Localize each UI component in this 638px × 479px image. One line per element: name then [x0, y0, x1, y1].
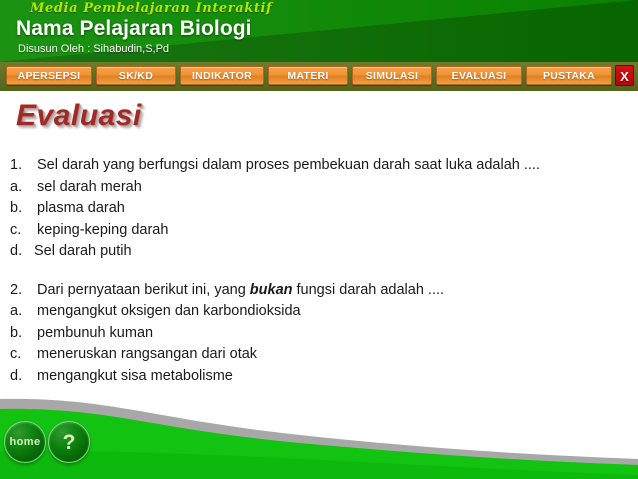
question-2-option-d[interactable]: d. mengangkut sisa metabolisme [10, 366, 630, 388]
page-title: Nama Pelajaran Biologi [16, 17, 252, 41]
question-1-option-c[interactable]: c. keping-keping darah [10, 220, 630, 242]
header-tagline: Media Pembelajaran Interaktif [30, 1, 272, 16]
question-2-number: 2. [10, 280, 37, 302]
nav-item-skkd[interactable]: SK/KD [96, 66, 176, 85]
quiz-content: 1. Sel darah yang berfungsi dalam proses… [10, 155, 630, 404]
nav-item-materi[interactable]: MATERI [268, 66, 348, 85]
question-2-option-b-text: pembunuh kuman [37, 323, 153, 345]
slide-canvas: Media Pembelajaran Interaktif Nama Pelaj… [0, 0, 638, 479]
nav-item-apersepsi[interactable]: APERSEPSI [6, 66, 92, 85]
question-1-option-a[interactable]: a. sel darah merah [10, 177, 630, 199]
question-mark-icon: ? [63, 432, 76, 453]
section-heading: Evaluasi [16, 99, 142, 133]
nav-item-pustaka[interactable]: PUSTAKA [526, 66, 612, 85]
help-button[interactable]: ? [48, 421, 90, 463]
nav-item-evaluasi[interactable]: EVALUASI [436, 66, 522, 85]
question-2-option-b[interactable]: b. pembunuh kuman [10, 323, 630, 345]
question-1-text: Sel darah yang berfungsi dalam proses pe… [37, 155, 540, 177]
question-1-option-c-text: keping-keping darah [37, 220, 168, 242]
question-2-text: Dari pernyataan berikut ini, yang bukan … [37, 280, 444, 302]
question-1-number: 1. [10, 155, 37, 177]
navigation-bar: APERSEPSI SK/KD INDIKATOR MATERI SIMULAS… [0, 62, 638, 91]
question-1-option-b-text: plasma darah [37, 198, 125, 220]
question-1-option-b[interactable]: b. plasma darah [10, 198, 630, 220]
header-author: Disusun Oleh : Sihabudin,S,Pd [18, 43, 169, 55]
question-block-1: 1. Sel darah yang berfungsi dalam proses… [10, 155, 630, 263]
question-2: 2. Dari pernyataan berikut ini, yang buk… [10, 280, 630, 302]
question-2-option-c-text: meneruskan rangsangan dari otak [37, 344, 257, 366]
nav-item-simulasi[interactable]: SIMULASI [352, 66, 432, 85]
question-2-text-before: Dari pernyataan berikut ini, yang [37, 282, 250, 298]
question-2-option-a-text: mengangkut oksigen dan karbondioksida [37, 301, 301, 323]
question-1-option-d-text: Sel darah putih [34, 241, 132, 263]
question-2-option-a[interactable]: a. mengangkut oksigen dan karbondioksida [10, 301, 630, 323]
question-block-2: 2. Dari pernyataan berikut ini, yang buk… [10, 280, 630, 388]
question-2-option-a-marker: a. [10, 301, 37, 323]
nav-item-indikator[interactable]: INDIKATOR [180, 66, 264, 85]
home-button[interactable]: home [4, 421, 46, 463]
question-1-option-d-marker: d. [10, 241, 34, 263]
question-1-option-d[interactable]: d. Sel darah putih [10, 241, 630, 263]
footer-decoration [0, 389, 638, 479]
home-button-label: home [10, 436, 41, 448]
close-icon[interactable]: X [615, 65, 634, 86]
question-2-option-c[interactable]: c. meneruskan rangsangan dari otak [10, 344, 630, 366]
question-2-option-b-marker: b. [10, 323, 37, 345]
question-2-text-emphasis: bukan [250, 282, 293, 298]
question-1: 1. Sel darah yang berfungsi dalam proses… [10, 155, 630, 177]
question-1-option-a-marker: a. [10, 177, 37, 199]
question-2-option-d-marker: d. [10, 366, 37, 388]
question-1-option-c-marker: c. [10, 220, 37, 242]
question-2-text-after: fungsi darah adalah .... [293, 282, 445, 298]
question-2-option-c-marker: c. [10, 344, 37, 366]
page-header: Media Pembelajaran Interaktif Nama Pelaj… [0, 0, 638, 62]
question-1-option-b-marker: b. [10, 198, 37, 220]
question-1-option-a-text: sel darah merah [37, 177, 142, 199]
question-2-option-d-text: mengangkut sisa metabolisme [37, 366, 233, 388]
